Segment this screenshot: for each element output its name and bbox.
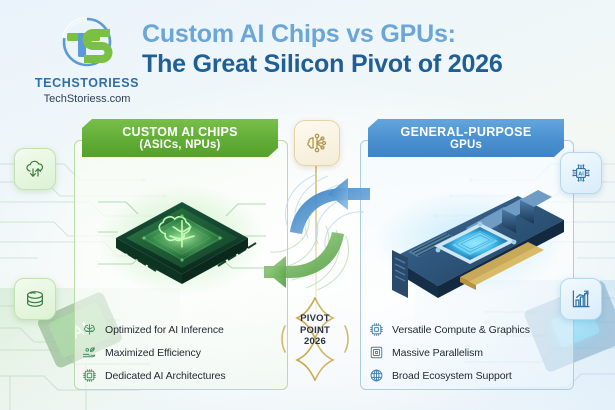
list-item: Versatile Compute & Graphics (369, 318, 579, 341)
infographic-canvas: AI TECHSTORIE (0, 0, 615, 410)
hand-leaf-efficiency-icon (82, 345, 97, 360)
side-badge-bar-chart-growth (560, 278, 602, 320)
side-badge-cloud-sync (14, 148, 56, 190)
list-item: Dedicated AI Architectures (82, 364, 292, 387)
bullet-label: Optimized for AI Inference (105, 324, 224, 336)
globe-icon (369, 368, 384, 383)
bullet-label: Versatile Compute & Graphics (392, 324, 530, 336)
swirl-transition-arrows (258, 166, 376, 298)
parallel-grid-icon (369, 345, 384, 360)
bullet-label: Maximized Efficiency (105, 347, 201, 359)
svg-text:AI: AI (578, 171, 584, 177)
banner-left-line-1: CUSTOM AI CHIPS (122, 125, 238, 139)
bullet-label: Dedicated AI Architectures (105, 370, 226, 382)
banner-general-purpose-gpus: GENERAL-PURPOSE GPUs (368, 119, 564, 157)
ai-brain-circuit-badge (294, 120, 340, 166)
brand-url: TechStoriess.com (28, 94, 146, 105)
banner-custom-ai-chips: CUSTOM AI CHIPS (ASICs, NPUs) (82, 119, 278, 157)
bullet-label: Massive Parallelism (392, 347, 483, 359)
ai-brain-circuit-icon (303, 129, 331, 157)
brand-logo[interactable]: TECHSTORIESS TechStoriess.com (28, 14, 146, 105)
list-item: Broad Ecosystem Support (369, 364, 579, 387)
bar-chart-growth-icon (569, 287, 593, 311)
ai-chip-network-icon: AI (569, 161, 593, 185)
bullet-label: Broad Ecosystem Support (392, 370, 512, 382)
data-stack-icon (23, 287, 47, 311)
cloud-sync-icon (23, 157, 47, 181)
side-badge-ai-chip-network: AI (560, 152, 602, 194)
banner-right-line-2: GPUs (450, 139, 482, 152)
title-line-1: Custom AI Chips vs GPUs: (142, 20, 602, 48)
bullet-list-general-purpose-gpus: Versatile Compute & Graphics Massive Par… (369, 318, 579, 387)
banner-right-line-1: GENERAL-PURPOSE (401, 125, 532, 139)
title-line-2: The Great Silicon Pivot of 2026 (142, 50, 602, 78)
list-item: Maximized Efficiency (82, 341, 292, 364)
gpu-graphics-card-illustration (368, 180, 568, 305)
list-item: Optimized for AI Inference (82, 318, 292, 341)
microchip-ai-icon (82, 368, 97, 383)
brain-icon (82, 322, 97, 337)
banner-left-line-2: (ASICs, NPUs) (139, 139, 220, 152)
ts-monogram-logo-icon (55, 14, 119, 76)
page-title: Custom AI Chips vs GPUs: The Great Silic… (142, 20, 602, 78)
list-item: Massive Parallelism (369, 341, 579, 364)
bullet-list-custom-ai-chips: Optimized for AI Inference Maximized Eff… (82, 318, 292, 387)
ai-chip-with-brain-illustration (92, 172, 272, 307)
side-badge-data-stack (14, 278, 56, 320)
cpu-chip-icon (369, 322, 384, 337)
brand-name: TECHSTORIESS (28, 77, 146, 90)
